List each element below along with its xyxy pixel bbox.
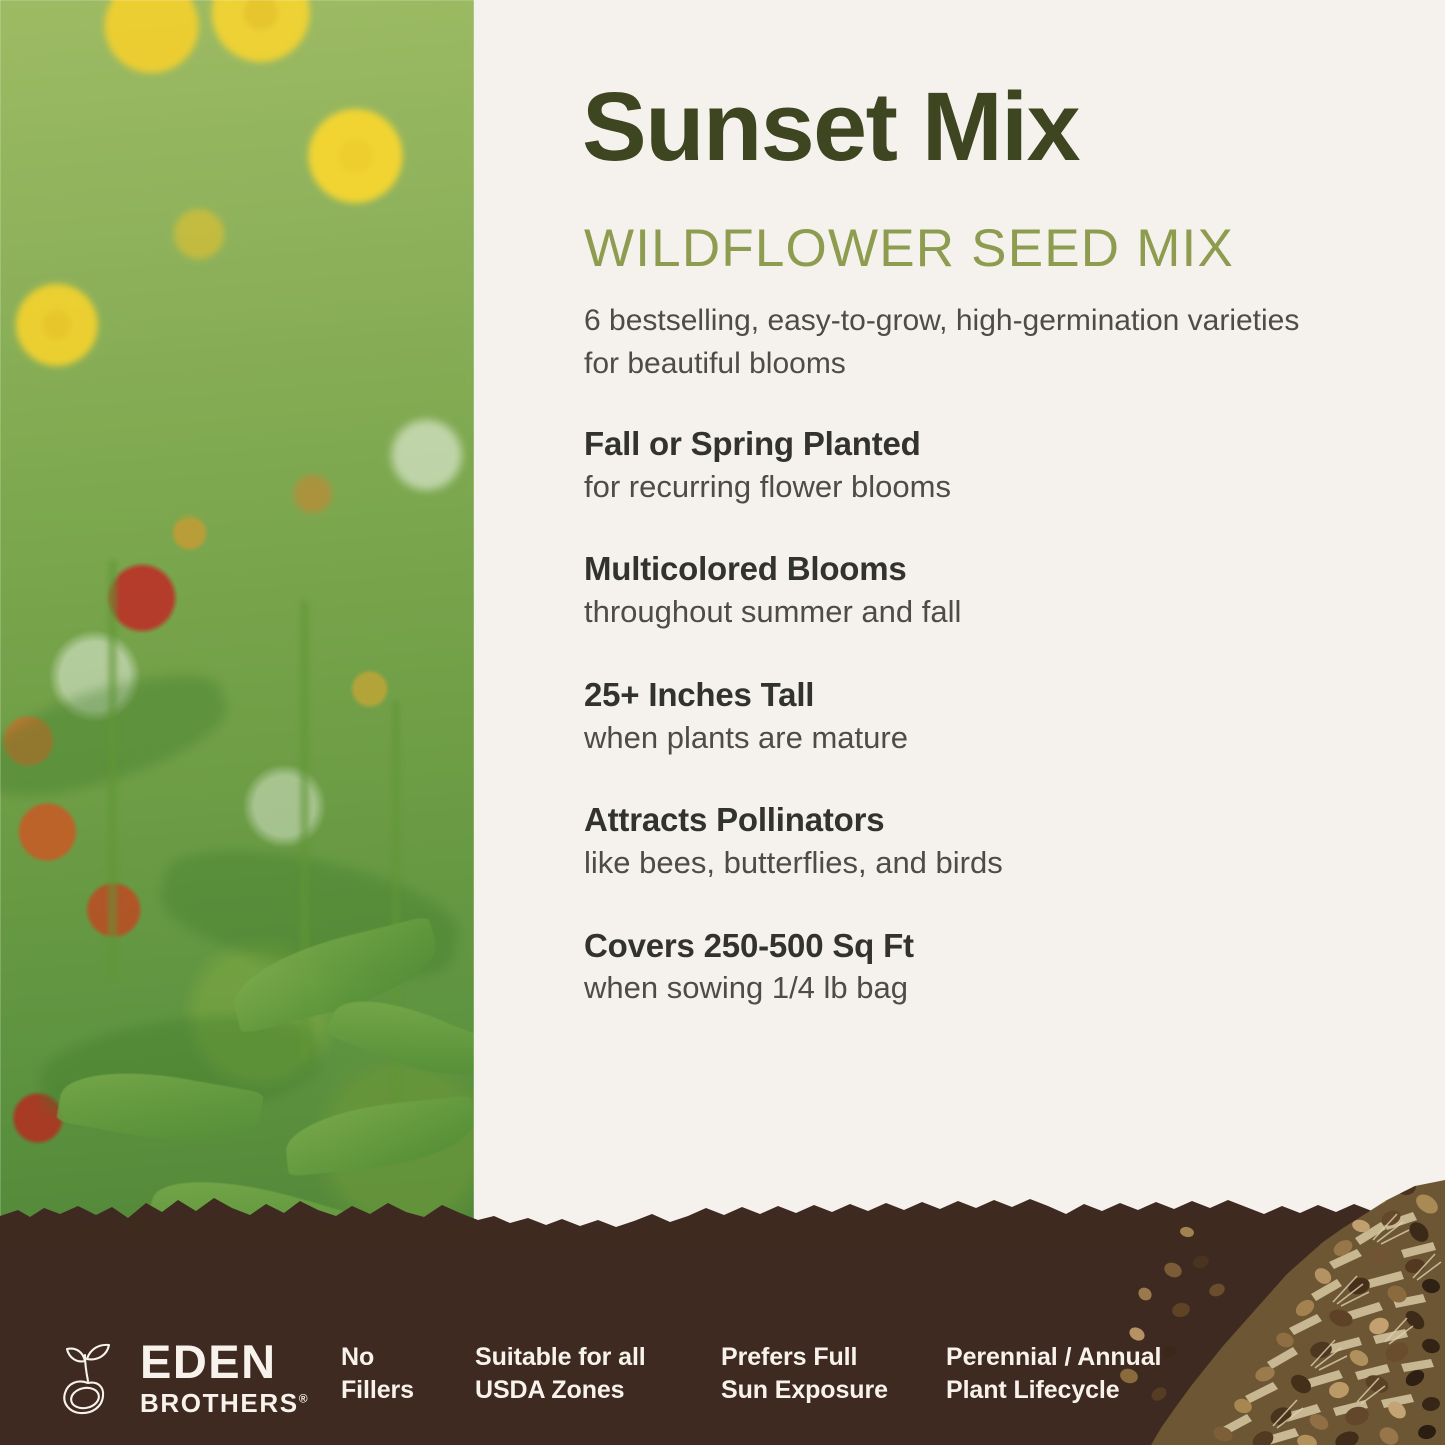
page-subtitle: WILDFLOWER SEED MIX — [584, 222, 1234, 275]
feature-heading: Fall or Spring Planted — [584, 425, 1344, 464]
footer-line-1: No — [341, 1341, 414, 1374]
footer-line-2: Fillers — [341, 1374, 414, 1407]
footer-feature-usda-zones: Suitable for all USDA Zones — [475, 1341, 646, 1407]
footer-feature-sun-exposure: Prefers Full Sun Exposure — [721, 1341, 888, 1407]
feature-heading: Covers 250-500 Sq Ft — [584, 927, 1344, 966]
footer-line-1: Prefers Full — [721, 1341, 888, 1374]
feature-list: Fall or Spring Planted for recurring flo… — [584, 425, 1344, 1052]
feature-subtext: when plants are mature — [584, 719, 1344, 757]
footer-line-1: Perennial / Annual — [946, 1341, 1161, 1374]
page-title: Sunset Mix — [582, 78, 1079, 175]
brand-wordmark: EDEN BROTHERS® — [140, 1338, 309, 1416]
feature-item: Fall or Spring Planted for recurring flo… — [584, 425, 1344, 506]
product-content-panel: Sunset Mix WILDFLOWER SEED MIX 6 bestsel… — [474, 0, 1445, 1300]
feature-heading: 25+ Inches Tall — [584, 676, 1344, 715]
footer-feature-no-fillers: No Fillers — [341, 1341, 414, 1407]
feature-item: Attracts Pollinators like bees, butterfl… — [584, 801, 1344, 882]
wildflower-garden-photo — [0, 0, 474, 1300]
feature-heading: Multicolored Blooms — [584, 550, 1344, 589]
footer-line-2: USDA Zones — [475, 1374, 646, 1407]
brand-name-brothers: BROTHERS® — [140, 1390, 309, 1416]
brand-logo: EDEN BROTHERS® — [52, 1337, 309, 1417]
feature-subtext: for recurring flower blooms — [584, 468, 1344, 506]
brand-name-eden: EDEN — [140, 1338, 309, 1385]
product-lede: 6 bestselling, easy-to-grow, high-germin… — [584, 300, 1324, 385]
feature-item: Covers 250-500 Sq Ft when sowing 1/4 lb … — [584, 927, 1344, 1008]
footer-line-2: Sun Exposure — [721, 1374, 888, 1407]
feature-item: Multicolored Blooms throughout summer an… — [584, 550, 1344, 631]
footer-line-2: Plant Lifecycle — [946, 1374, 1161, 1407]
feature-heading: Attracts Pollinators — [584, 801, 1344, 840]
product-info-card: Sunset Mix WILDFLOWER SEED MIX 6 bestsel… — [0, 0, 1445, 1445]
feature-subtext: throughout summer and fall — [584, 593, 1344, 631]
footer-line-1: Suitable for all — [475, 1341, 646, 1374]
feature-subtext: like bees, butterflies, and birds — [584, 844, 1344, 882]
feature-item: 25+ Inches Tall when plants are mature — [584, 676, 1344, 757]
feature-subtext: when sowing 1/4 lb bag — [584, 969, 1344, 1007]
footer-feature-plant-lifecycle: Perennial / Annual Plant Lifecycle — [946, 1341, 1161, 1407]
seedling-sprout-icon — [52, 1337, 126, 1417]
